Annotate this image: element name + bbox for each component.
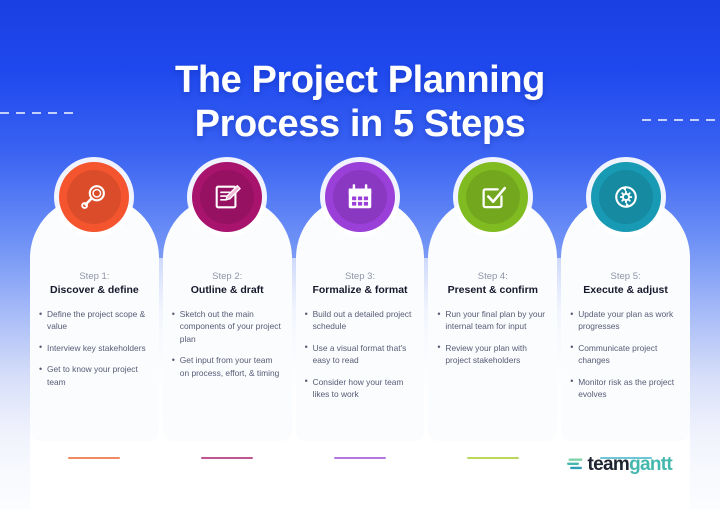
- steps-container: Step 1: Discover & define Define the pro…: [30, 196, 690, 441]
- step-5-bullets: Update your plan as work progresses Comm…: [561, 308, 690, 400]
- step-3-label: Step 3:: [296, 270, 425, 283]
- calendar-icon: [345, 182, 375, 212]
- step-2-underline: [201, 457, 253, 460]
- step-4-badge: [458, 162, 528, 232]
- list-item: Get input from your team on process, eff…: [180, 354, 282, 379]
- page-title-line-2: Process in 5 Steps: [0, 102, 720, 146]
- teamgantt-logo[interactable]: teamgantt: [567, 455, 673, 474]
- list-item: Use a visual format that's easy to read: [313, 342, 415, 367]
- step-4-title: Present & confirm: [428, 283, 557, 297]
- gantt-bars-icon: [567, 457, 584, 472]
- step-2-bullets: Sketch out the main components of your p…: [163, 308, 292, 379]
- step-4-bullets: Run your final plan by your internal tea…: [428, 308, 557, 367]
- list-item: Get to know your project team: [47, 363, 149, 388]
- step-card-4[interactable]: Step 4: Present & confirm Run your final…: [428, 196, 557, 441]
- step-4-label: Step 4:: [428, 270, 557, 283]
- logo-text-gantt: gantt: [629, 454, 672, 475]
- step-card-3[interactable]: Step 3: Formalize & format Build out a d…: [296, 196, 425, 441]
- step-3-title: Formalize & format: [296, 283, 425, 297]
- list-item: Communicate project changes: [578, 342, 680, 367]
- step-1-title: Discover & define: [30, 283, 159, 297]
- step-1-badge: [59, 162, 129, 232]
- step-3-bullets: Build out a detailed project schedule Us…: [296, 308, 425, 400]
- list-item: Build out a detailed project schedule: [313, 308, 415, 333]
- step-1-label: Step 1:: [30, 270, 159, 283]
- page-title: The Project Planning Process in 5 Steps: [0, 58, 720, 146]
- step-card-5[interactable]: Step 5: Execute & adjust Update your pla…: [561, 196, 690, 441]
- gear-cycle-icon: [611, 182, 641, 212]
- magnifier-icon: [79, 182, 109, 212]
- document-pencil-icon: [212, 182, 242, 212]
- step-2-badge: [192, 162, 262, 232]
- step-1-underline: [68, 457, 120, 460]
- step-1-bullets: Define the project scope & value Intervi…: [30, 308, 159, 388]
- list-item: Run your final plan by your internal tea…: [445, 308, 547, 333]
- step-card-1[interactable]: Step 1: Discover & define Define the pro…: [30, 196, 159, 441]
- step-5-badge: [591, 162, 661, 232]
- step-card-2[interactable]: Step 2: Outline & draft Sketch out the m…: [163, 196, 292, 441]
- list-item: Interview key stakeholders: [47, 342, 149, 354]
- list-item: Sketch out the main components of your p…: [180, 308, 282, 345]
- step-2-label: Step 2:: [163, 270, 292, 283]
- step-2-title: Outline & draft: [163, 283, 292, 297]
- list-item: Update your plan as work progresses: [578, 308, 680, 333]
- page-title-line-1: The Project Planning: [0, 58, 720, 102]
- list-item: Review your plan with project stakeholde…: [445, 342, 547, 367]
- list-item: Monitor risk as the project evolves: [578, 376, 680, 401]
- infographic-canvas: The Project Planning Process in 5 Steps …: [0, 0, 720, 509]
- step-5-title: Execute & adjust: [561, 283, 690, 297]
- list-item: Consider how your team likes to work: [313, 376, 415, 401]
- logo-text-team: team: [588, 454, 630, 475]
- step-3-underline: [334, 457, 386, 460]
- list-item: Define the project scope & value: [47, 308, 149, 333]
- step-3-badge: [325, 162, 395, 232]
- checkbox-icon: [478, 182, 508, 212]
- step-5-label: Step 5:: [561, 270, 690, 283]
- step-4-underline: [467, 457, 519, 460]
